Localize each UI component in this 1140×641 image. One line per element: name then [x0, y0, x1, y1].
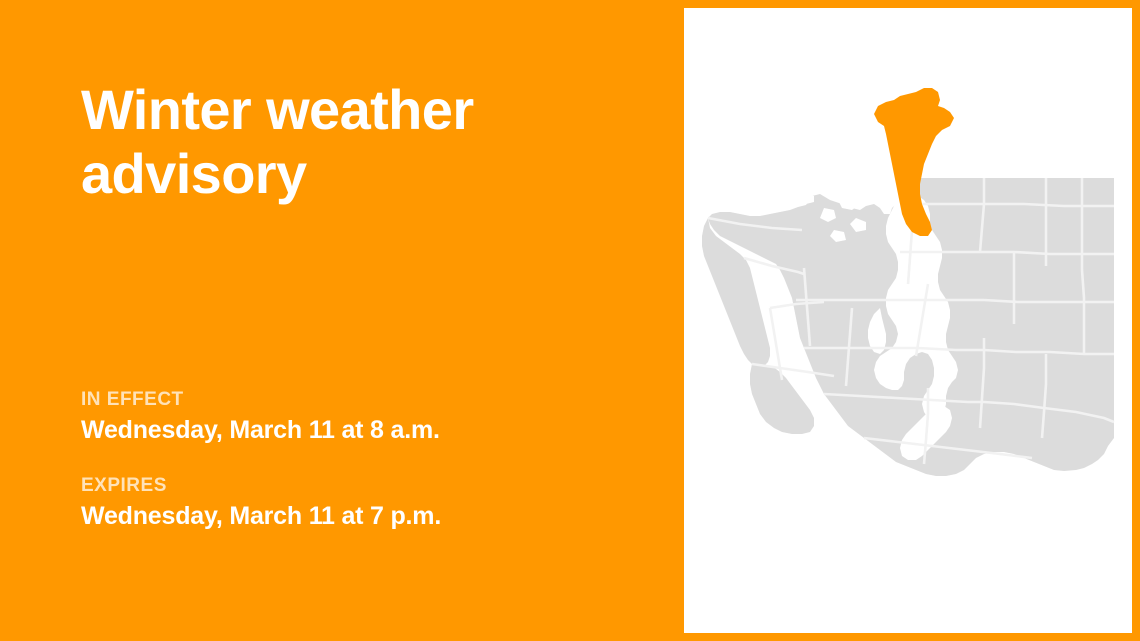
in-effect-label: IN EFFECT	[81, 389, 641, 411]
alert-text-panel: Winter weather advisory IN EFFECT Wednes…	[0, 0, 684, 641]
alert-title: Winter weather advisory	[81, 78, 641, 206]
map-panel	[684, 8, 1132, 633]
alert-timing-block: IN EFFECT Wednesday, March 11 at 8 a.m. …	[81, 389, 641, 532]
washington-state-map	[684, 8, 1132, 633]
expires-value: Wednesday, March 11 at 7 p.m.	[81, 502, 641, 532]
in-effect-group: IN EFFECT Wednesday, March 11 at 8 a.m.	[81, 389, 641, 445]
weather-alert-card: Winter weather advisory IN EFFECT Wednes…	[0, 0, 1140, 641]
expires-label: EXPIRES	[81, 475, 641, 497]
in-effect-value: Wednesday, March 11 at 8 a.m.	[81, 416, 641, 446]
expires-group: EXPIRES Wednesday, March 11 at 7 p.m.	[81, 475, 641, 531]
